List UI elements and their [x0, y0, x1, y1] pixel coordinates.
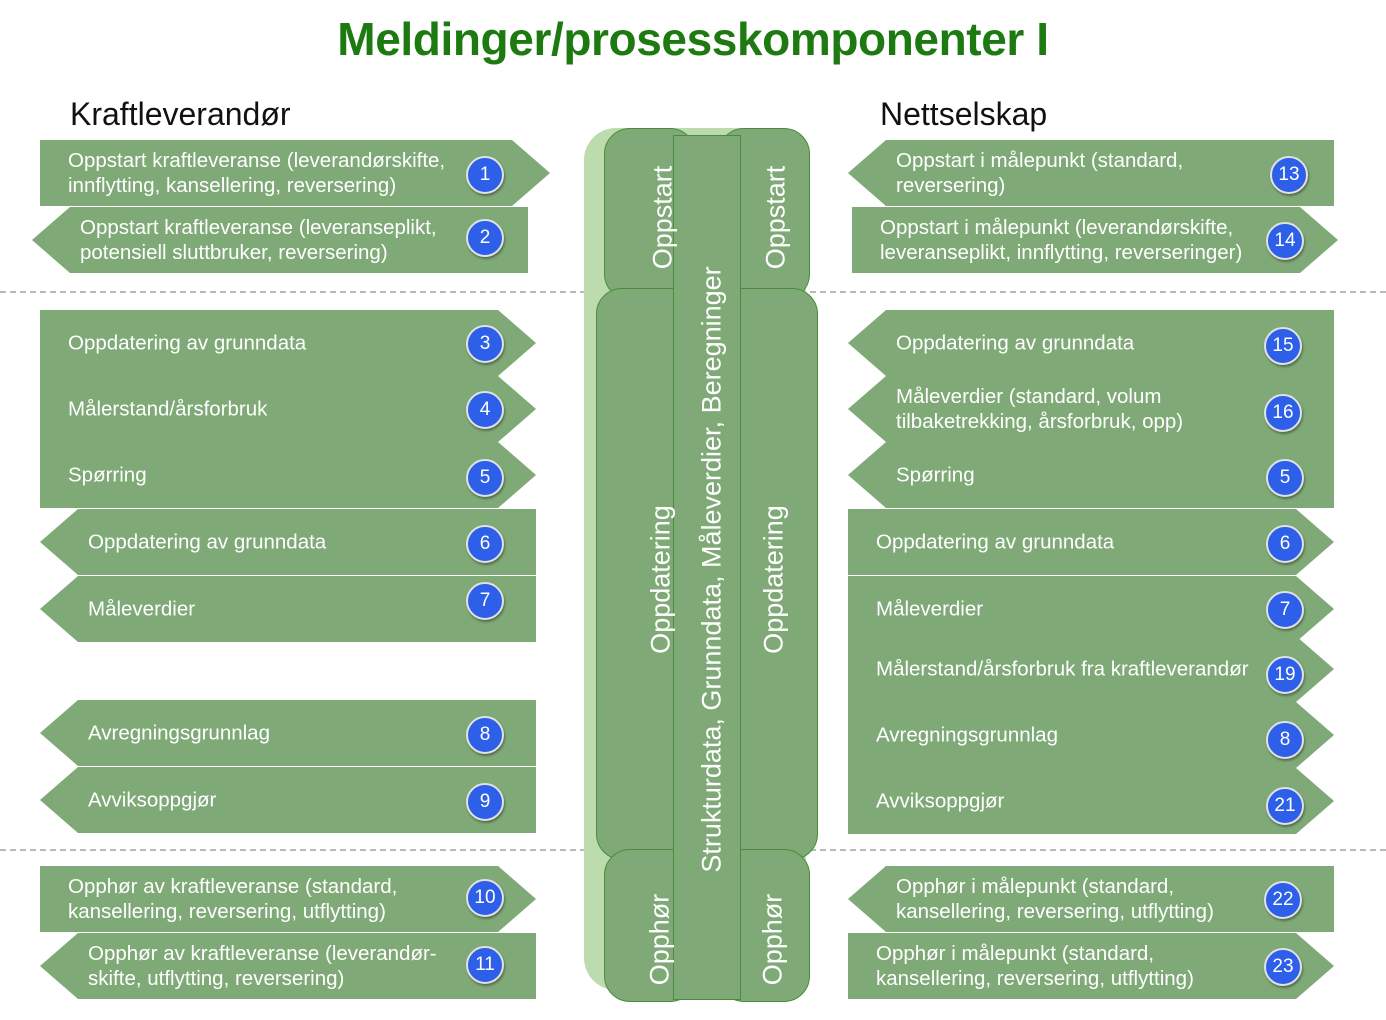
center-left-label-oppdatering: Oppdatering: [648, 430, 675, 730]
right-arrow-7[interactable]: Måleverdier: [848, 576, 1334, 642]
right-arrow-21-badge: 21: [1266, 787, 1304, 825]
left-arrow-9-badge: 9: [466, 783, 504, 821]
right-arrow-16-label: Måleverdier (standard, volum tilbaketrek…: [896, 384, 1274, 434]
right-arrow-15-label: Oppdatering av grunndata: [896, 331, 1274, 356]
left-arrow-10-label: Opphør av kraftleveranse (standard, kans…: [68, 874, 458, 924]
right-arrow-19-badge: 19: [1266, 656, 1304, 694]
right-arrow-16-badge: 16: [1264, 394, 1302, 432]
column-header-kraftleverandor: Kraftleverandør: [70, 96, 291, 133]
left-arrow-9-label: Avviksoppgjør: [88, 788, 476, 813]
right-arrow-14-label: Oppstart i målepunkt (leverandørskifte, …: [880, 215, 1260, 265]
left-arrow-5[interactable]: Spørring: [40, 442, 536, 508]
left-arrow-7-label: Måleverdier: [88, 597, 476, 622]
column-header-nettselskap: Nettselskap: [880, 96, 1047, 133]
left-arrow-7-badge: 7: [466, 582, 504, 620]
right-arrow-13-label: Oppstart i målepunkt (standard, reverser…: [896, 148, 1274, 198]
left-arrow-6-label: Oppdatering av grunndata: [88, 530, 476, 555]
left-arrow-11-badge: 11: [466, 946, 504, 984]
left-arrow-9[interactable]: Avviksoppgjør: [40, 767, 536, 833]
right-arrow-5-label: Spørring: [896, 463, 1274, 488]
right-arrow-13[interactable]: Oppstart i målepunkt (standard, reverser…: [848, 140, 1334, 206]
left-arrow-8-label: Avregningsgrunnlag: [88, 721, 476, 746]
left-arrow-3-label: Oppdatering av grunndata: [68, 331, 458, 356]
center-left-label-opphor: Opphør: [647, 860, 674, 1020]
left-arrow-5-label: Spørring: [68, 463, 458, 488]
left-arrow-7[interactable]: Måleverdier: [40, 576, 536, 642]
center-middle-label: Strukturdata, Grunndata, Måleverdier, Be…: [699, 250, 726, 890]
right-arrow-8[interactable]: Avregningsgrunnlag: [848, 702, 1334, 768]
right-arrow-22[interactable]: Opphør i målepunkt (standard, kanselleri…: [848, 866, 1334, 932]
right-arrow-6-badge: 6: [1266, 525, 1304, 563]
right-arrow-22-label: Opphør i målepunkt (standard, kanselleri…: [896, 874, 1274, 924]
right-arrow-19[interactable]: Målerstand/årsforbruk fra kraftleverandø…: [848, 636, 1334, 702]
right-arrow-21-label: Avviksoppgjør: [876, 789, 1256, 814]
left-arrow-3-badge: 3: [466, 325, 504, 363]
left-arrow-11[interactable]: Opphør av kraftleveranse (leverandør-ski…: [40, 933, 536, 999]
right-arrow-6[interactable]: Oppdatering av grunndata: [848, 509, 1334, 575]
right-arrow-6-label: Oppdatering av grunndata: [876, 530, 1256, 555]
left-arrow-4[interactable]: Målerstand/årsforbruk: [40, 376, 536, 442]
left-arrow-11-label: Opphør av kraftleveranse (leverandør-ski…: [88, 941, 476, 991]
right-arrow-7-label: Måleverdier: [876, 597, 1256, 622]
left-arrow-5-badge: 5: [466, 459, 504, 497]
left-arrow-2[interactable]: Oppstart kraftleveranse (leveranseplikt,…: [32, 207, 528, 273]
left-arrow-4-badge: 4: [466, 391, 504, 429]
right-arrow-15-badge: 15: [1264, 327, 1302, 365]
left-arrow-4-label: Målerstand/årsforbruk: [68, 397, 458, 422]
left-arrow-10[interactable]: Opphør av kraftleveranse (standard, kans…: [40, 866, 536, 932]
left-arrow-3[interactable]: Oppdatering av grunndata: [40, 310, 536, 376]
left-arrow-6[interactable]: Oppdatering av grunndata: [40, 509, 536, 575]
right-arrow-23-badge: 23: [1264, 948, 1302, 986]
right-arrow-7-badge: 7: [1266, 591, 1304, 629]
right-arrow-15[interactable]: Oppdatering av grunndata: [848, 310, 1334, 376]
center-right-label-oppstart: Oppstart: [763, 128, 790, 308]
left-arrow-2-label: Oppstart kraftleveranse (leveranseplikt,…: [80, 215, 468, 265]
right-arrow-8-label: Avregningsgrunnlag: [876, 723, 1256, 748]
center-right-label-oppdatering: Oppdatering: [761, 430, 788, 730]
left-arrow-1-badge: 1: [466, 156, 504, 194]
right-arrow-23-label: Opphør i målepunkt (standard, kanselleri…: [876, 941, 1256, 991]
right-arrow-5-badge: 5: [1266, 459, 1304, 497]
right-arrow-22-badge: 22: [1264, 881, 1302, 919]
center-right-label-opphor: Opphør: [760, 860, 787, 1020]
right-arrow-13-badge: 13: [1270, 156, 1308, 194]
right-arrow-8-badge: 8: [1266, 721, 1304, 759]
left-arrow-10-badge: 10: [466, 879, 504, 917]
left-arrow-2-badge: 2: [466, 219, 504, 257]
center-left-label-oppstart: Oppstart: [650, 128, 677, 308]
left-arrow-1-label: Oppstart kraftleveranse (leverandørskift…: [68, 148, 472, 198]
right-arrow-16[interactable]: Måleverdier (standard, volum tilbaketrek…: [848, 376, 1334, 442]
page-title: Meldinger/prosesskomponenter I: [0, 12, 1386, 66]
right-arrow-21[interactable]: Avviksoppgjør: [848, 768, 1334, 834]
right-arrow-19-label: Målerstand/årsforbruk fra kraftleverandø…: [876, 657, 1256, 682]
left-arrow-6-badge: 6: [466, 525, 504, 563]
left-arrow-8[interactable]: Avregningsgrunnlag: [40, 700, 536, 766]
right-arrow-5[interactable]: Spørring: [848, 442, 1334, 508]
diagram-canvas: Meldinger/prosesskomponenter I Kraftleve…: [0, 0, 1386, 1002]
right-arrow-23[interactable]: Opphør i målepunkt (standard, kanselleri…: [848, 933, 1334, 999]
left-arrow-8-badge: 8: [466, 716, 504, 754]
right-arrow-14-badge: 14: [1266, 222, 1304, 260]
